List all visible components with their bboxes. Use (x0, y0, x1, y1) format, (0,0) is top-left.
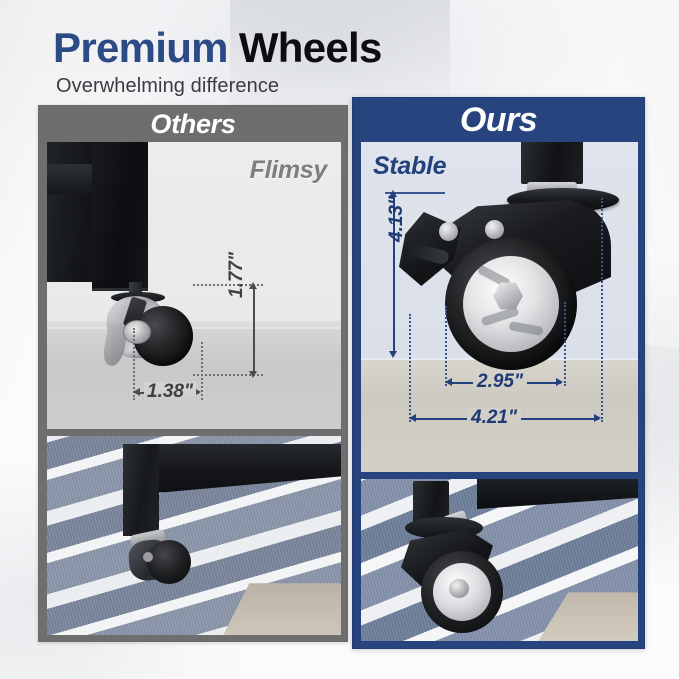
comparison-panel-ours: Ours Stable (352, 97, 645, 649)
large-caster-on-rug (393, 517, 523, 633)
caster-hub-bolt (123, 320, 151, 344)
photo-others-caster-closeup: Flimsy 1.77" 1.38" (47, 142, 341, 429)
header: Premium Wheels Overwhelming difference (0, 0, 679, 100)
dimension-height-others-label: 1.77" (227, 252, 246, 298)
caster-rivet (439, 222, 458, 241)
quality-label-stable: Stable (373, 154, 446, 179)
photo-others-caster-on-rug (47, 436, 341, 635)
small-caster-on-rug (125, 532, 199, 592)
panel-header-others-label: Others (150, 111, 235, 138)
page-subtitle: Overwhelming difference (56, 76, 279, 96)
caster-rivet (485, 220, 504, 239)
caster-axle-bolt (449, 579, 469, 598)
dimension-width-others-label: 1.38" (144, 382, 196, 401)
caster-hub (143, 552, 153, 562)
photo-ours-caster-on-rug (361, 479, 638, 641)
dimension-total-width-ours-label: 4.21" (467, 408, 521, 427)
photo-ours-caster-closeup: Stable 4.13" 2.95" (361, 142, 638, 472)
caster-wheel (147, 540, 191, 584)
table-leg-square (521, 142, 583, 184)
small-caster-assembly (103, 282, 203, 374)
table-leg-post (92, 142, 148, 291)
dimension-wheel-width-ours-label: 2.95" (473, 372, 527, 391)
infographic-page: Premium Wheels Overwhelming difference O… (0, 0, 679, 679)
title-word-wheels: Wheels (239, 24, 382, 71)
page-title: Premium Wheels (53, 27, 382, 69)
comparison-panel-others: Others Flimsy (38, 105, 348, 642)
large-caster-assembly (397, 186, 619, 376)
panel-header-ours: Ours (353, 98, 644, 142)
panel-header-ours-label: Ours (460, 103, 537, 137)
title-word-premium: Premium (53, 24, 228, 71)
quality-label-flimsy: Flimsy (250, 158, 327, 183)
panel-header-others: Others (39, 106, 347, 142)
table-leg (123, 444, 159, 536)
dimension-height-ours-label: 4.13" (387, 196, 406, 242)
